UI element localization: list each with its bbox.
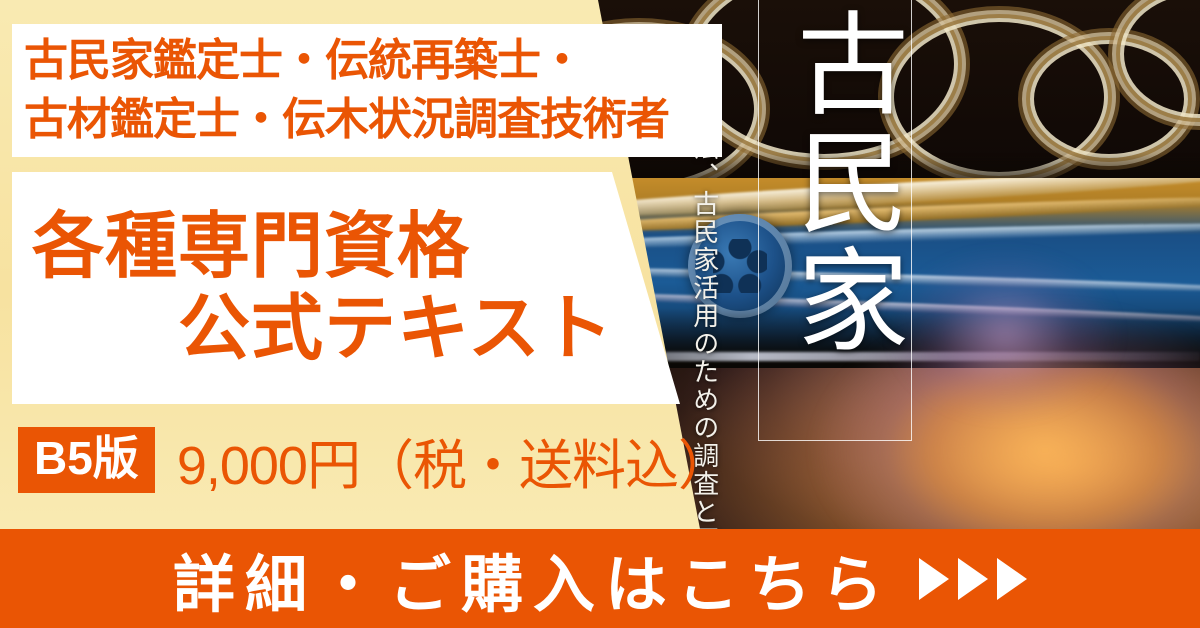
subheading-line-2: 公式テキスト [12,291,680,367]
cover-title: 古民家 [766,6,906,360]
cta-bar[interactable]: 詳細・ご購入はこちら [0,529,1200,628]
bokeh-glow-purple [890,250,1120,420]
headline-line-2: 古材鑑定士・伝木状況調査技術者 [24,91,720,149]
subheading-line-1: 各種専門資格 [12,209,680,285]
subheading-text: 各種専門資格 公式テキスト [12,172,680,404]
headline-line-1: 古民家鑑定士・伝統再築士・ [24,32,720,90]
price-label: 9,000円（税・送料込） [177,421,731,500]
cta-label: 詳細・ご購入はこちら [173,534,893,624]
format-badge: B5版 [18,427,155,493]
play-arrow-icon [997,558,1027,600]
headline-text: 古民家鑑定士・伝統再築士・ 古材鑑定士・伝木状況調査技術者 [14,25,720,156]
price-row: B5版 9,000円（税・送料込） [18,421,731,499]
cta-arrows [919,558,1027,600]
promo-banner: 古民家 伝統構法、古民家活用のための調査と再生の 古民家鑑定士・伝統再築士・ 古… [0,0,1200,628]
play-arrow-icon [958,558,988,600]
play-arrow-icon [919,558,949,600]
